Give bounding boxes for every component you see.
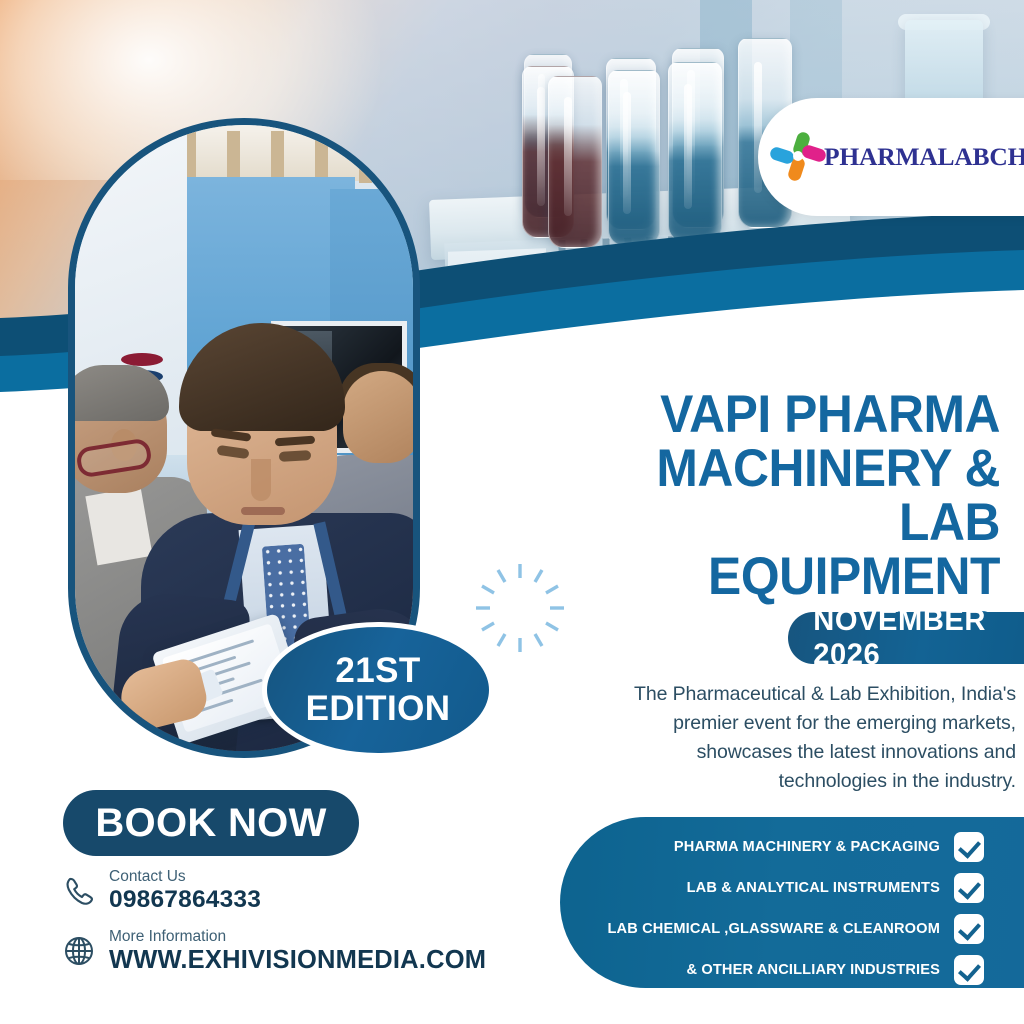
category-item[interactable]: & OTHER ANCILLIARY INDUSTRIES	[560, 951, 984, 988]
event-description: The Pharmaceutical & Lab Exhibition, Ind…	[596, 680, 1016, 796]
website-text-group: More Information WWW.EXHIVISIONMEDIA.COM	[109, 928, 486, 974]
website-contact-row[interactable]: More Information WWW.EXHIVISIONMEDIA.COM	[62, 928, 532, 974]
contact-block: Contact Us 09867864333 More	[62, 868, 532, 988]
event-date-badge: NOVEMBER 2026	[788, 612, 1024, 664]
edition-number: 21ST	[335, 652, 420, 690]
title-line-2: MACHINERY & LAB	[575, 442, 1000, 550]
checkbox-checked-icon[interactable]	[954, 955, 984, 985]
test-tube	[608, 70, 660, 246]
contact-us-label: Contact Us	[109, 868, 261, 886]
rack-pedestal	[448, 248, 546, 360]
test-tube	[668, 62, 722, 242]
checkbox-checked-icon[interactable]	[954, 873, 984, 903]
phone-number: 09867864333	[109, 886, 261, 914]
brand-logo: PHARMALABCHEM EXPO	[758, 98, 1024, 216]
brand-logo-text: PHARMALABCHEM EXPO	[824, 142, 1024, 172]
category-list: PHARMA MACHINERY & PACKAGING LAB & ANALY…	[560, 817, 1024, 988]
rack-stripes	[558, 230, 861, 345]
event-poster: PHARMALABCHEM EXPO VAPI PHARMA MACHINERY…	[0, 0, 1024, 1024]
category-label: PHARMA MACHINERY & PACKAGING	[674, 839, 940, 855]
phone-icon	[62, 874, 96, 908]
website-url: WWW.EXHIVISIONMEDIA.COM	[109, 946, 486, 974]
more-information-label: More Information	[109, 928, 486, 946]
checkbox-checked-icon[interactable]	[954, 914, 984, 944]
phone-contact-row[interactable]: Contact Us 09867864333	[62, 868, 532, 914]
book-now-button[interactable]: BOOK NOW	[63, 790, 359, 856]
checkbox-checked-icon[interactable]	[954, 832, 984, 862]
category-item[interactable]: PHARMA MACHINERY & PACKAGING	[560, 828, 984, 865]
category-item[interactable]: LAB & ANALYTICAL INSTRUMENTS	[560, 869, 984, 906]
category-label: LAB CHEMICAL ,GLASSWARE & CLEANROOM	[607, 921, 940, 937]
sunburst-decoration	[470, 558, 570, 658]
test-tube	[548, 76, 602, 248]
phone-text-group: Contact Us 09867864333	[109, 868, 261, 914]
edition-badge: 21ST EDITION	[262, 622, 494, 758]
title-line-1: VAPI PHARMA	[575, 388, 1000, 442]
edition-word: EDITION	[306, 690, 451, 728]
category-item[interactable]: LAB CHEMICAL ,GLASSWARE & CLEANROOM	[560, 910, 984, 947]
category-label: LAB & ANALYTICAL INSTRUMENTS	[687, 880, 940, 896]
category-label: & OTHER ANCILLIARY INDUSTRIES	[686, 962, 940, 978]
globe-icon	[62, 934, 96, 968]
pharma-pinwheel-icon	[770, 129, 826, 185]
